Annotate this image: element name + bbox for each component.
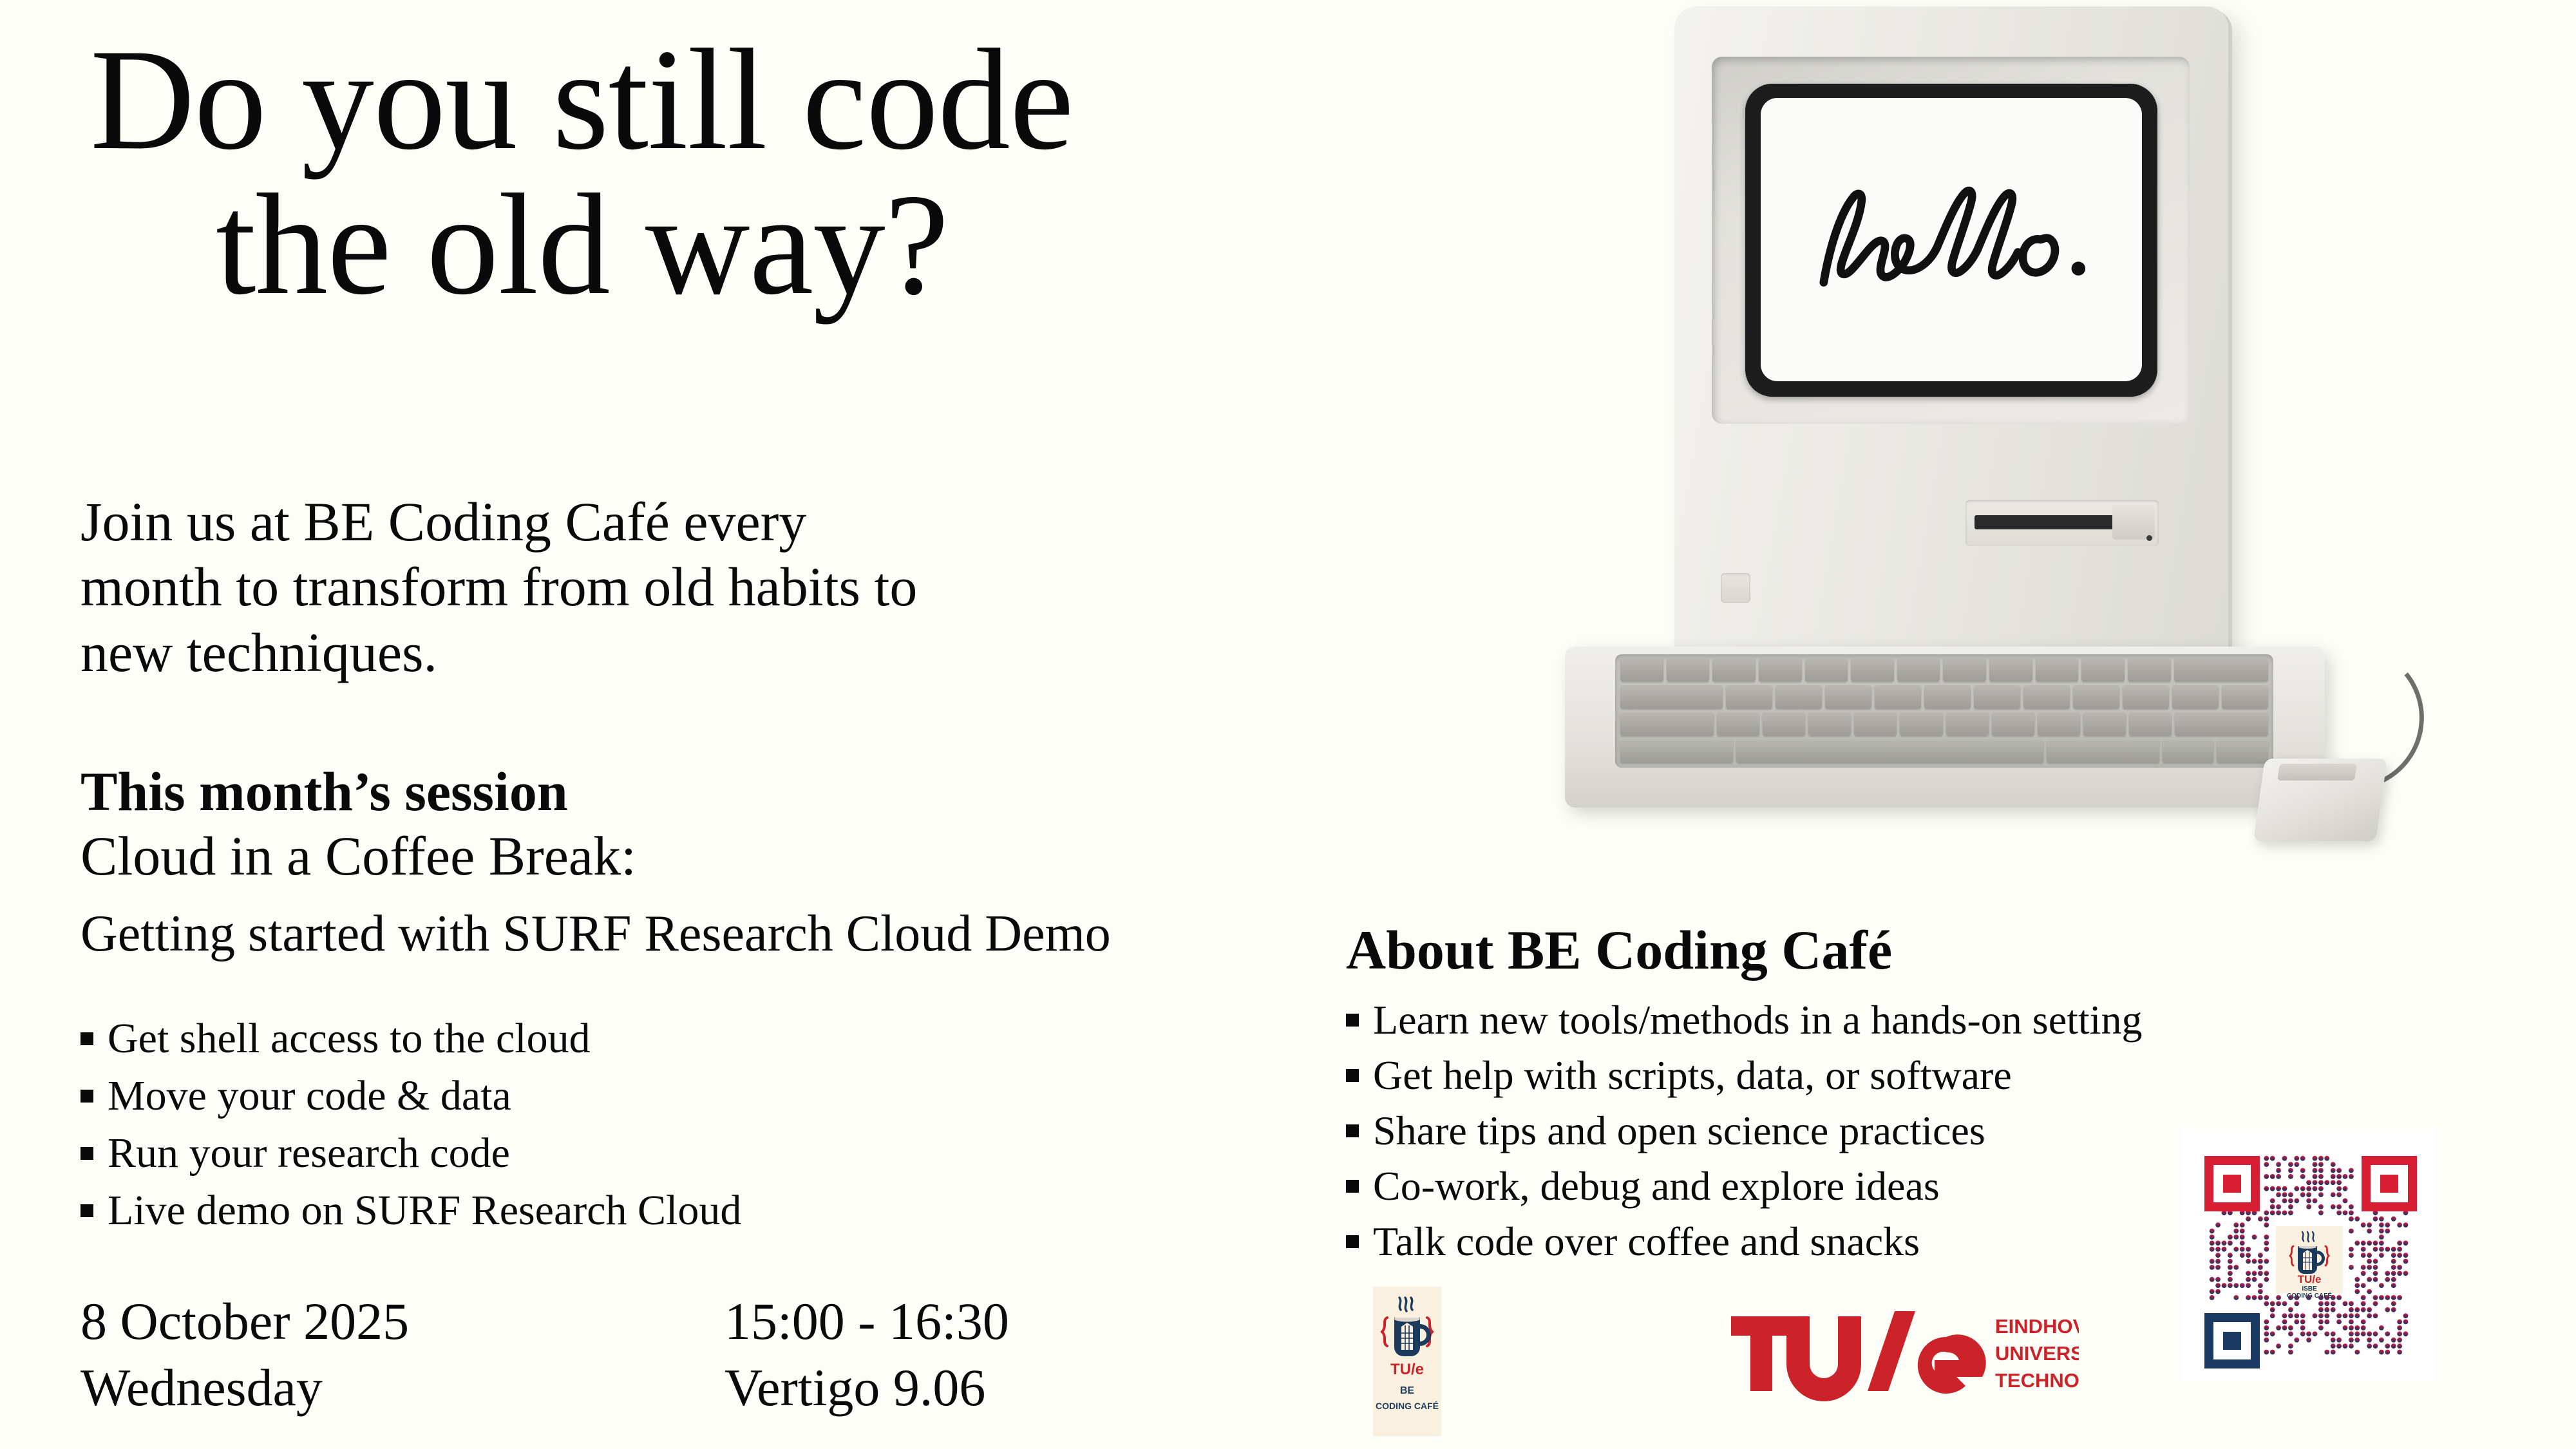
list-item-label: Move your code & data — [108, 1072, 511, 1119]
mac-front-badge — [1721, 573, 1750, 603]
square-bullet-icon — [1346, 1069, 1359, 1082]
mac-keyboard — [1565, 647, 2325, 808]
list-item-label: Get help with scripts, data, or software — [1373, 1052, 2012, 1098]
hello-period-icon — [2072, 261, 2086, 276]
tue-logo: EINDHOVEN UNIVERSITY OF TECHNOLOGY — [1731, 1306, 2079, 1409]
event-day: Wednesday — [80, 1354, 724, 1421]
event-location: Vertigo 9.06 — [724, 1354, 985, 1421]
qr-code-icon[interactable]: TU/e ISBE CODING CAFÉ — [2182, 1128, 2434, 1381]
square-bullet-icon — [1346, 1124, 1359, 1137]
list-item-label: Share tips and open science practices — [1373, 1108, 1985, 1153]
list-item-label: Talk code over coffee and snacks — [1373, 1218, 1920, 1264]
right-column: About BE Coding Café Learn new tools/met… — [1288, 0, 2576, 1449]
becc-line-1: BE — [1400, 1385, 1415, 1396]
intro-line-2: month to transform from old habits to — [80, 554, 1207, 620]
event-details-row-2: WednesdayVertigo 9.06 — [80, 1354, 1240, 1421]
list-item: Share tips and open science practices — [1346, 1110, 2312, 1151]
list-item: Live demo on SURF Research Cloud — [80, 1189, 853, 1232]
list-item-label: Run your research code — [108, 1130, 510, 1177]
floppy-slot-opening — [1975, 515, 2125, 529]
macintosh-illustration — [1565, 0, 2415, 869]
list-item-label: Get shell access to the cloud — [108, 1015, 591, 1062]
square-bullet-icon — [1346, 1180, 1359, 1193]
keyboard-keywell — [1615, 654, 2273, 768]
mouse-button — [2277, 764, 2357, 781]
building-icon — [1401, 1323, 1413, 1350]
tue-wordmark-icon: EINDHOVEN UNIVERSITY OF TECHNOLOGY — [1731, 1306, 2079, 1409]
list-item: Learn new tools/methods in a hands-on se… — [1346, 999, 2312, 1041]
tue-line-3: TECHNOLOGY — [1995, 1369, 2079, 1392]
headline-line-2: the old way? — [90, 172, 1249, 317]
list-item: Talk code over coffee and snacks — [1346, 1221, 2312, 1262]
becc-tue-text: TU/e — [1390, 1361, 1424, 1378]
page-title: Do you still code the old way? — [90, 27, 1249, 317]
mac-mouse — [2253, 759, 2387, 841]
session-bullet-list: Get shell access to the cloud Move your … — [80, 1018, 853, 1247]
about-block: About BE Coding Café Learn new tools/met… — [1346, 922, 2312, 1276]
session-heading: This month’s session — [80, 760, 1240, 824]
floppy-eject-tab — [2112, 505, 2155, 540]
square-bullet-icon — [80, 1147, 93, 1160]
qr-center-logo: TU/e ISBE CODING CAFÉ — [2276, 1226, 2343, 1300]
list-item-label: Co-work, debug and explore ideas — [1373, 1163, 1940, 1209]
be-coding-cafe-logo: TU/e BE CODING CAFÉ — [1373, 1287, 1441, 1436]
mug-rim-icon — [1394, 1316, 1420, 1322]
intro-line-3: new techniques. — [80, 620, 1207, 685]
qr-logo-line-2: CODING CAFÉ — [2287, 1291, 2332, 1300]
event-time: 15:00 - 16:30 — [724, 1288, 1009, 1354]
tue-line-2: UNIVERSITY OF — [1995, 1342, 2079, 1365]
session-block: This month’s session Cloud in a Coffee B… — [80, 760, 1240, 963]
qr-tue-text: TU/e — [2298, 1273, 2322, 1285]
becc-line-2: CODING CAFÉ — [1376, 1401, 1439, 1411]
session-title: Cloud in a Coffee Break: — [80, 824, 1240, 889]
floppy-led-icon — [2146, 535, 2152, 541]
list-item: Co-work, debug and explore ideas — [1346, 1166, 2312, 1207]
intro-paragraph: Join us at BE Coding Café every month to… — [80, 489, 1207, 685]
mac-case — [1674, 6, 2228, 676]
list-item-label: Learn new tools/methods in a hands-on se… — [1373, 997, 2142, 1043]
list-item: Move your code & data — [80, 1075, 853, 1117]
qr-code[interactable]: TU/e ISBE CODING CAFÉ — [2182, 1128, 2434, 1381]
mac-crt — [1745, 84, 2157, 397]
intro-line-1: Join us at BE Coding Café every — [80, 489, 1207, 554]
session-subtitle: Getting started with SURF Research Cloud… — [80, 904, 1240, 964]
floppy-drive-slot — [1965, 500, 2159, 546]
mac-screen — [1761, 98, 2142, 381]
poster-canvas: Do you still code the old way? Join us a… — [0, 0, 2576, 1449]
left-column: Do you still code the old way? Join us a… — [0, 0, 1288, 1449]
headline-line-1: Do you still code — [90, 27, 1249, 172]
square-bullet-icon — [1346, 1235, 1359, 1248]
qr-logo-line-1: ISBE — [2302, 1285, 2317, 1293]
square-bullet-icon — [80, 1090, 93, 1103]
coffee-mug-logo-icon: TU/e BE CODING CAFÉ — [1373, 1287, 1441, 1436]
list-item: Get shell access to the cloud — [80, 1018, 853, 1060]
tue-line-1: EINDHOVEN — [1995, 1315, 2079, 1338]
square-bullet-icon — [80, 1204, 93, 1217]
about-bullet-list: Learn new tools/methods in a hands-on se… — [1346, 999, 2312, 1262]
hello-script-icon — [1787, 140, 2115, 339]
event-details-row-1: 8 October 202515:00 - 16:30 — [80, 1288, 1240, 1354]
list-item: Run your research code — [80, 1132, 853, 1175]
event-date: 8 October 2025 — [80, 1288, 724, 1354]
event-details: 8 October 202515:00 - 16:30 WednesdayVer… — [80, 1288, 1240, 1421]
mac-bezel — [1712, 57, 2190, 424]
list-item: Get help with scripts, data, or software — [1346, 1055, 2312, 1096]
square-bullet-icon — [1346, 1014, 1359, 1027]
square-bullet-icon — [80, 1032, 93, 1045]
about-heading: About BE Coding Café — [1346, 922, 2312, 978]
list-item-label: Live demo on SURF Research Cloud — [108, 1187, 741, 1234]
